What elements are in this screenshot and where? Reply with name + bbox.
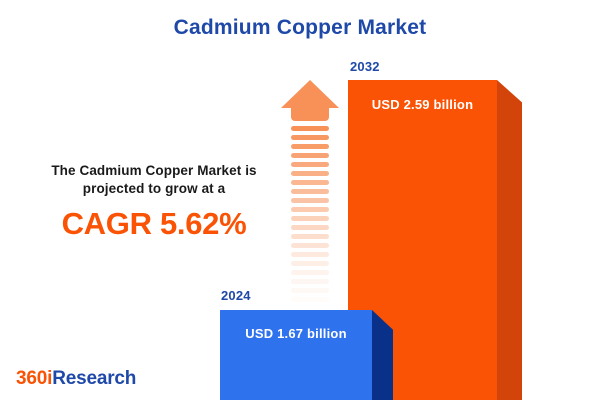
arrow-stripe [291,243,329,248]
infographic-canvas: Cadmium Copper Market The Cadmium Copper… [0,0,600,400]
bar-year-label-2024: 2024 [221,288,251,303]
arrow-stripe [291,297,329,302]
arrow-stripe [291,144,329,149]
arrow-stripe [291,162,329,167]
arrow-head-icon [281,80,339,108]
bar-side-panel [497,80,522,400]
bar-year-label-2032: 2032 [350,59,380,74]
arrow-stripe [291,171,329,176]
arrow-stripe [291,198,329,203]
arrow-stripe [291,234,329,239]
page-title: Cadmium Copper Market [0,16,600,40]
cagr-caption-block: The Cadmium Copper Market is projected t… [24,162,284,241]
arrow-stripe [291,261,329,266]
bar-front-face [220,310,372,400]
arrow-stripe [291,180,329,185]
logo-text-360: 360 [16,368,47,389]
brand-logo: 360iResearch [16,368,136,390]
arrow-stripe [291,189,329,194]
logo-text-research: Research [52,368,136,389]
arrow-stripe [291,207,329,212]
arrow-stripe [291,216,329,221]
caption-line-2: projected to grow at a [24,180,284,198]
cagr-value: CAGR 5.62% [24,207,284,241]
bar-2024: USD 1.67 billion [220,310,372,400]
arrow-stripe [291,153,329,158]
arrow-stripe [291,270,329,275]
arrow-stripe [291,288,329,293]
arrow-stripe [291,135,329,140]
arrow-stripe [291,279,329,284]
arrow-stripe [291,225,329,230]
growth-arrow-icon [281,80,339,300]
arrow-stripe [291,252,329,257]
bar-value-label-2032: USD 2.59 billion [348,97,497,112]
caption-line-1: The Cadmium Copper Market is [24,162,284,180]
arrow-neck-icon [291,107,329,121]
arrow-stripe [291,126,329,131]
bar-value-label-2024: USD 1.67 billion [220,326,372,341]
